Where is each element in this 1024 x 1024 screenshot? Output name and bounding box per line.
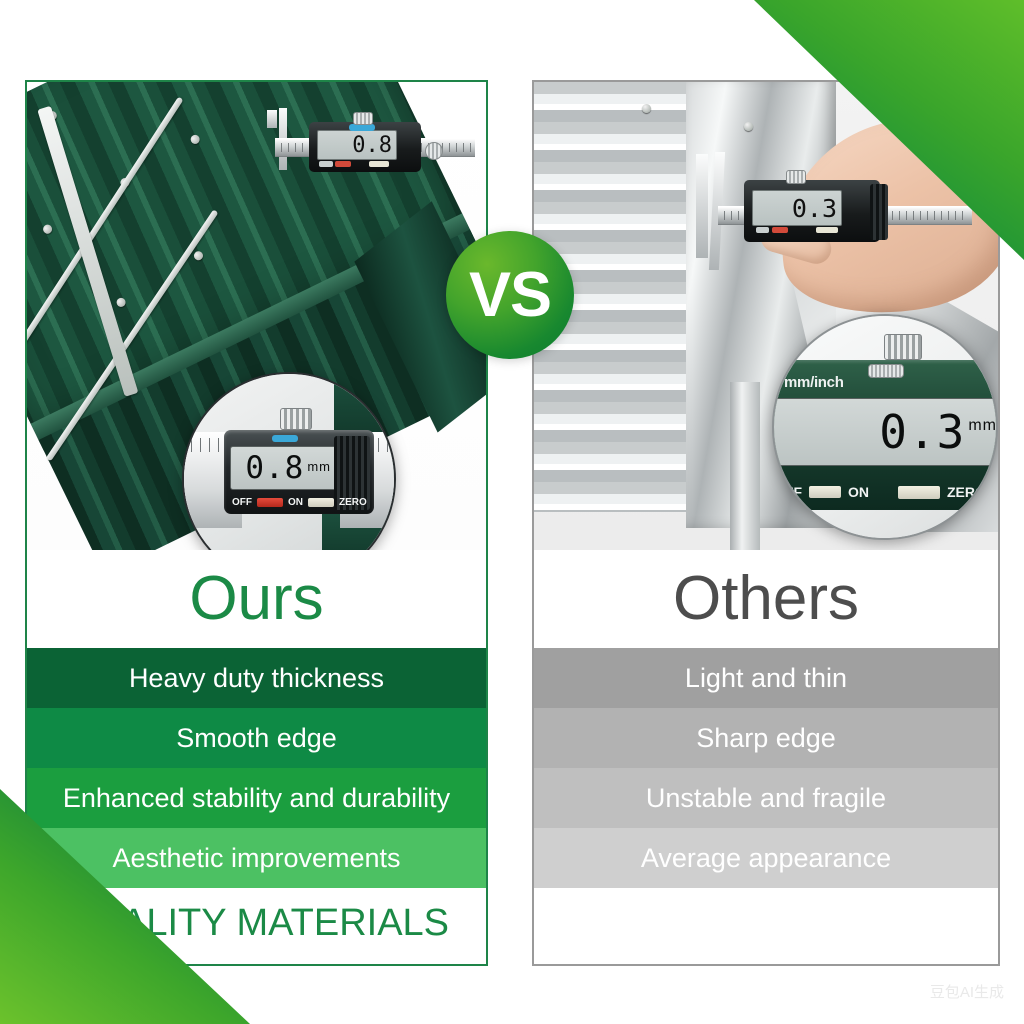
panel-ours: 0.8 0.8mm bbox=[25, 80, 488, 966]
caliper-zero-label-ours: ZERO bbox=[339, 497, 367, 508]
feature-label-others: Sharp edge bbox=[696, 723, 836, 754]
feature-row-others: Light and thin bbox=[534, 648, 998, 708]
feature-label-ours: Smooth edge bbox=[176, 723, 337, 754]
caliper-reading-ours: 0.8 bbox=[245, 450, 304, 486]
comparison-infographic: 0.8 0.8mm bbox=[0, 0, 1024, 1024]
caliper-display-ours: 0.8mm OFF ON ZERO bbox=[224, 430, 374, 514]
magnifier-others: mm/inch 0.3mm OFF ON ZERO bbox=[772, 314, 998, 540]
silver-leg bbox=[730, 382, 760, 550]
feature-row-ours: Aesthetic improvements bbox=[27, 828, 486, 888]
heading-others-band: Others bbox=[534, 550, 998, 648]
feature-label-others: Light and thin bbox=[685, 663, 847, 694]
heading-ours: Ours bbox=[189, 568, 323, 630]
caliper-on-label-others: ON bbox=[848, 484, 869, 500]
caliper-power-switch-others[interactable] bbox=[809, 486, 841, 498]
caliper-on-label-ours: ON bbox=[288, 497, 303, 508]
feature-row-others: Average appearance bbox=[534, 828, 998, 888]
feature-label-others: Average appearance bbox=[641, 843, 891, 874]
feature-label-ours: Aesthetic improvements bbox=[112, 843, 400, 874]
caliper-zero-switch-ours[interactable] bbox=[308, 498, 334, 507]
heading-others: Others bbox=[673, 568, 859, 630]
caliper-unit-others: mm bbox=[968, 417, 997, 435]
caliper-display-others: mm/inch 0.3mm OFF ON ZERO bbox=[772, 360, 998, 510]
vs-badge: VS bbox=[446, 231, 574, 359]
caliper-reading-others: 0.3 bbox=[879, 405, 965, 459]
caliper-zero-label-others: ZERO bbox=[947, 484, 986, 500]
feature-row-ours: Smooth edge bbox=[27, 708, 486, 768]
panel-others: 0.3 mm/inch 0.3mm OFF bbox=[532, 80, 1000, 966]
caliper-ours: 0.8 bbox=[265, 108, 480, 186]
feature-rows-ours: Heavy duty thickness Smooth edge Enhance… bbox=[27, 648, 486, 888]
caliper-brand-label-others: mm/inch bbox=[784, 374, 844, 391]
feature-row-others: Unstable and fragile bbox=[534, 768, 998, 828]
vs-badge-label: VS bbox=[469, 264, 551, 327]
caliper-unit-ours: mm bbox=[307, 459, 331, 474]
caliper-power-switch-ours[interactable] bbox=[257, 498, 283, 507]
magnifier-ours: 0.8mm OFF ON ZERO bbox=[182, 372, 396, 550]
feature-label-ours: Enhanced stability and durability bbox=[63, 783, 450, 814]
caliper-off-label-ours: OFF bbox=[232, 497, 252, 508]
product-photo-ours: 0.8 0.8mm bbox=[27, 82, 486, 550]
caliper-off-label-others: OFF bbox=[774, 484, 802, 500]
watermark: 豆包AI生成 bbox=[930, 981, 1004, 1002]
feature-row-ours: Heavy duty thickness bbox=[27, 648, 486, 708]
feature-rows-others: Light and thin Sharp edge Unstable and f… bbox=[534, 648, 998, 888]
feature-row-others: Sharp edge bbox=[534, 708, 998, 768]
heading-ours-band: Ours bbox=[27, 550, 486, 648]
caliper-zero-switch-others[interactable] bbox=[898, 486, 940, 499]
feature-label-others: Unstable and fragile bbox=[646, 783, 886, 814]
feature-row-ours: Enhanced stability and durability bbox=[27, 768, 486, 828]
feature-label-ours: Heavy duty thickness bbox=[129, 663, 384, 694]
footer-others-band bbox=[534, 888, 998, 958]
